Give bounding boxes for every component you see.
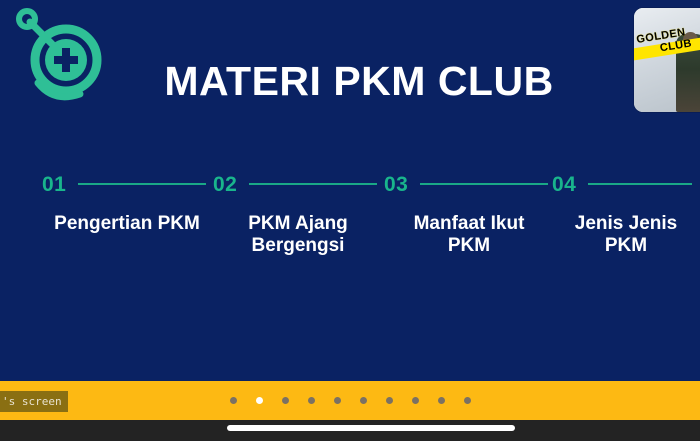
pagination-dot[interactable]: [464, 397, 471, 404]
slide-pagination-dots[interactable]: [0, 381, 700, 420]
screen-share-viewer: MATERI PKM CLUB GOLDEN CLUB 01 Pengertia…: [0, 0, 700, 441]
pagination-dot[interactable]: [438, 397, 445, 404]
slide-title: MATERI PKM CLUB: [0, 61, 700, 102]
screen-share-bar: 's screen: [0, 381, 700, 420]
pagination-dot[interactable]: [230, 397, 237, 404]
agenda-item-02-number: 02: [213, 174, 237, 195]
pagination-dot-active[interactable]: [256, 397, 263, 404]
agenda-item-01-head: 01: [42, 172, 212, 196]
pagination-dot[interactable]: [308, 397, 315, 404]
agenda-item-04: 04 Jenis Jenis PKM: [552, 172, 700, 258]
agenda-item-04-label: Jenis Jenis PKM: [552, 213, 700, 258]
pagination-dot[interactable]: [360, 397, 367, 404]
agenda-item-04-number: 04: [552, 174, 576, 195]
presentation-slide[interactable]: MATERI PKM CLUB GOLDEN CLUB 01 Pengertia…: [0, 0, 700, 381]
agenda-item-03-label: Manfaat Ikut PKM: [384, 213, 554, 258]
agenda-item-03-rule: [420, 183, 548, 185]
system-bottom-bar: [0, 420, 700, 441]
agenda-item-03-number: 03: [384, 174, 408, 195]
video-thumbnail[interactable]: GOLDEN CLUB: [634, 8, 700, 112]
home-indicator[interactable]: [227, 425, 515, 431]
agenda-item-04-rule: [588, 183, 692, 185]
agenda-item-02-label: PKM Ajang Bergengsi: [213, 213, 383, 258]
pagination-dot[interactable]: [334, 397, 341, 404]
agenda-item-03: 03 Manfaat Ikut PKM: [384, 172, 554, 258]
agenda-item-01-rule: [78, 183, 206, 185]
agenda-item-01: 01 Pengertian PKM: [42, 172, 212, 235]
pagination-dot[interactable]: [412, 397, 419, 404]
agenda-item-04-head: 04: [552, 172, 700, 196]
agenda-item-02-head: 02: [213, 172, 383, 196]
agenda-item-03-head: 03: [384, 172, 554, 196]
pagination-dot[interactable]: [386, 397, 393, 404]
agenda-item-02-rule: [249, 183, 377, 185]
agenda-item-01-label: Pengertian PKM: [42, 213, 212, 235]
agenda-items: 01 Pengertian PKM 02 PKM Ajang Bergengsi…: [0, 172, 700, 332]
agenda-item-02: 02 PKM Ajang Bergengsi: [213, 172, 383, 258]
pagination-dot[interactable]: [282, 397, 289, 404]
agenda-item-01-number: 01: [42, 174, 66, 195]
